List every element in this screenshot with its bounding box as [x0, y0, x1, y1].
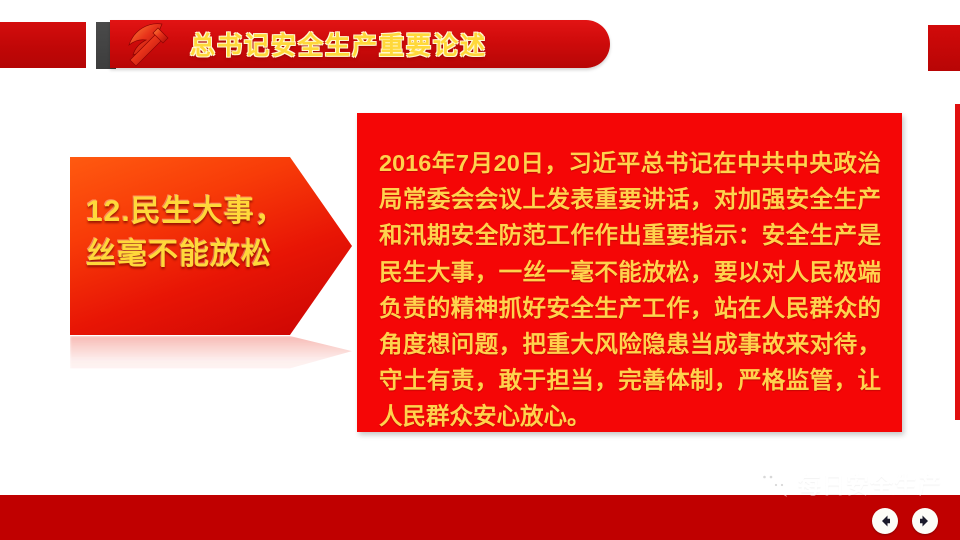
corner-red-block — [928, 25, 960, 71]
page-title: 总书记安全生产重要论述 — [190, 20, 487, 68]
arrow-left-icon — [878, 514, 892, 528]
arrow-banner-reflection — [70, 336, 352, 390]
header-red-accent-left — [0, 22, 86, 68]
footer-bar — [0, 495, 960, 540]
prev-slide-button[interactable] — [872, 508, 898, 534]
wechat-icon — [756, 468, 790, 498]
content-panel: 2016年7月20日，习近平总书记在中共中央政治局常委会会议上发表重要讲话，对加… — [357, 113, 902, 432]
hammer-and-sickle-icon — [118, 16, 176, 72]
watermark-label: 每日安全生产 — [798, 466, 942, 500]
content-panel-body: 2016年7月20日，习近平总书记在中共中央政治局常委会会议上发表重要讲话，对加… — [379, 145, 881, 435]
right-red-stripe — [955, 104, 960, 420]
section-arrow-banner: 12.民生大事， 丝毫不能放松 — [70, 157, 352, 335]
slide-navigation — [872, 508, 938, 534]
arrow-banner-line-2: 丝毫不能放松 — [86, 234, 296, 277]
arrow-banner-label: 12.民生大事， 丝毫不能放松 — [86, 191, 296, 276]
arrow-banner-line-1: 12.民生大事， — [86, 191, 296, 234]
arrow-right-icon — [918, 514, 932, 528]
slide-canvas: 总书记安全生产重要论述 12.民生大事， 丝毫不能放松 2016年7月20日，习… — [0, 0, 960, 540]
watermark: 每日安全生产 — [756, 466, 942, 500]
next-slide-button[interactable] — [912, 508, 938, 534]
